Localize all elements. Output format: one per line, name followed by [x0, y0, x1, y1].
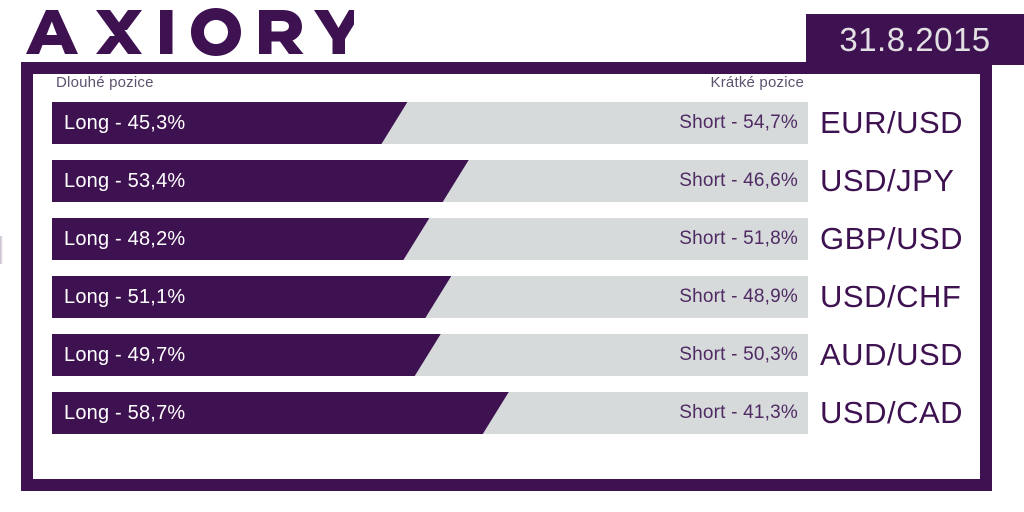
sentiment-bar-track: Long - 53,4%Short - 46,6% — [52, 160, 808, 202]
sentiment-bar-track: Long - 48,2%Short - 51,8% — [52, 218, 808, 260]
header: 31.8.2015 — [0, 0, 1024, 68]
long-label: Long - 58,7% — [64, 392, 185, 434]
sentiment-rows: Long - 45,3%Short - 54,7%EUR/USDLong - 5… — [52, 102, 992, 434]
sentiment-table: Dlouhé pozice Krátké pozice Long - 45,3%… — [52, 74, 992, 486]
sentiment-row: Long - 58,7%Short - 41,3%USD/CAD — [52, 392, 992, 434]
long-label: Long - 49,7% — [64, 334, 185, 376]
sentiment-row: Long - 49,7%Short - 50,3%AUD/USD — [52, 334, 992, 376]
long-label: Long - 53,4% — [64, 160, 185, 202]
axiory-logo — [24, 8, 354, 56]
sentiment-row: Long - 51,1%Short - 48,9%USD/CHF — [52, 276, 992, 318]
sentiment-row: Long - 48,2%Short - 51,8%GBP/USD — [52, 218, 992, 260]
short-label: Short - 51,8% — [679, 218, 798, 260]
axiory-wordmark-logo — [24, 8, 354, 56]
sentiment-infographic: 31.8.2015 Dlouhé pozice Krátké pozice Lo… — [0, 0, 1024, 512]
sentiment-bar-track: Long - 45,3%Short - 54,7% — [52, 102, 808, 144]
long-label: Long - 48,2% — [64, 218, 185, 260]
currency-pair-label: USD/CAD — [820, 392, 963, 434]
short-label: Short - 54,7% — [679, 102, 798, 144]
short-label: Short - 41,3% — [679, 392, 798, 434]
sentiment-bar-track: Long - 51,1%Short - 48,9% — [52, 276, 808, 318]
long-column-heading: Dlouhé pozice — [56, 74, 154, 91]
short-label: Short - 48,9% — [679, 276, 798, 318]
sentiment-row: Long - 53,4%Short - 46,6%USD/JPY — [52, 160, 992, 202]
sentiment-bar-track: Long - 58,7%Short - 41,3% — [52, 392, 808, 434]
currency-pair-label: USD/CHF — [820, 276, 961, 318]
sentiment-bar-track: Long - 49,7%Short - 50,3% — [52, 334, 808, 376]
long-label: Long - 45,3% — [64, 102, 185, 144]
long-label: Long - 51,1% — [64, 276, 185, 318]
currency-pair-label: USD/JPY — [820, 160, 954, 202]
short-label: Short - 46,6% — [679, 160, 798, 202]
short-label: Short - 50,3% — [679, 334, 798, 376]
short-column-heading: Krátké pozice — [711, 74, 804, 91]
currency-pair-label: EUR/USD — [820, 102, 963, 144]
currency-pair-label: AUD/USD — [820, 334, 963, 376]
edge-marker — [0, 236, 3, 264]
sentiment-row: Long - 45,3%Short - 54,7%EUR/USD — [52, 102, 992, 144]
column-headings: Dlouhé pozice Krátké pozice — [52, 74, 808, 102]
date-badge: 31.8.2015 — [806, 14, 1024, 65]
currency-pair-label: GBP/USD — [820, 218, 963, 260]
